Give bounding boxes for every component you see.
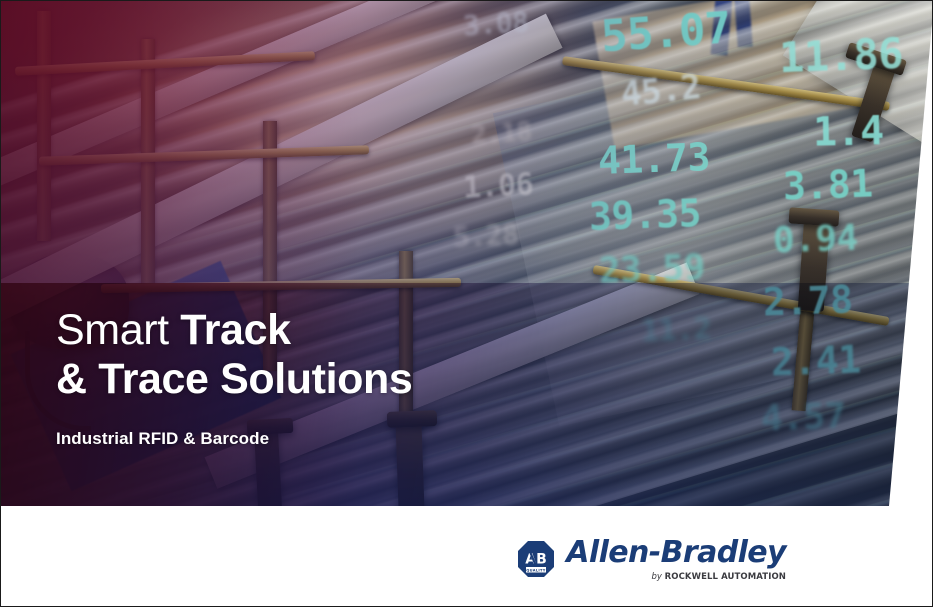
page-title: Smart Track & Trace Solutions bbox=[56, 306, 412, 404]
page-title-line-1: Smart Track bbox=[56, 306, 412, 355]
page-title-word-smart: Smart bbox=[56, 306, 169, 354]
brand-tagline-prefix: by bbox=[651, 572, 664, 582]
page-title-word-track: Track bbox=[180, 306, 290, 354]
brochure-cover-page: 55.0745.211.861.42.181.065.2841.7339.352… bbox=[0, 0, 933, 607]
title-block: Smart Track & Trace Solutions Industrial… bbox=[56, 306, 412, 449]
allen-bradley-logo-lockup: AB QUALITY Allen-Bradley by ROCKWELL AUT… bbox=[517, 537, 786, 582]
brand-name: Allen-Bradley bbox=[566, 537, 786, 568]
page-subtitle: Industrial RFID & Barcode bbox=[56, 429, 412, 449]
logo-text-wrap: Allen-Bradley by ROCKWELL AUTOMATION bbox=[566, 537, 786, 582]
allen-bradley-octagon-icon: AB QUALITY bbox=[517, 540, 555, 580]
brand-tagline-text: ROCKWELL AUTOMATION bbox=[665, 572, 786, 582]
page-title-line-2: & Trace Solutions bbox=[56, 355, 412, 404]
ab-mark-banner-text: QUALITY bbox=[527, 568, 547, 572]
brand-tagline: by ROCKWELL AUTOMATION bbox=[651, 572, 786, 582]
